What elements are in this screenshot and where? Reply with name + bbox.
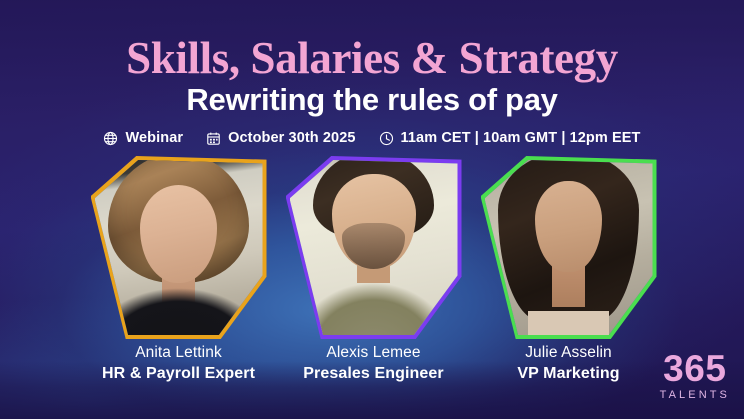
brand-logo: 365 TALENTS [660, 350, 730, 401]
brand-logo-wordmark: TALENTS [660, 390, 730, 401]
portrait-clothing [290, 255, 458, 336]
meta-item-date: October 30th 2025 [206, 130, 355, 146]
meta-item-format: Webinar [103, 130, 183, 146]
speaker-card: Anita Lettink HR & Payroll Expert [81, 160, 276, 383]
portrait-clothing [528, 311, 609, 336]
calendar-icon [206, 131, 221, 146]
speaker-card: Alexis Lemee Presales Engineer [276, 160, 471, 383]
meta-label-date: October 30th 2025 [228, 130, 355, 146]
meta-label-format: Webinar [125, 130, 183, 146]
speaker-role: HR & Payroll Expert [102, 365, 255, 383]
speaker-name: Alexis Lemee [326, 344, 420, 362]
speaker-role: Presales Engineer [303, 365, 443, 383]
clock-icon [379, 131, 394, 146]
banner-subtitle: Rewriting the rules of pay [0, 82, 744, 118]
speaker-photo-frame [290, 160, 458, 335]
meta-item-times: 11am CET | 10am GMT | 12pm EET [379, 130, 641, 146]
speaker-card: Julie Asselin VP Marketing [471, 160, 666, 383]
event-meta-bar: Webinar October 30th 2025 [0, 130, 744, 146]
banner-content: Skills, Salaries & Strategy Rewriting th… [0, 0, 744, 419]
meta-label-times: 11am CET | 10am GMT | 12pm EET [401, 130, 641, 146]
speaker-name: Anita Lettink [135, 344, 222, 362]
globe-icon [103, 131, 118, 146]
speaker-list: Anita Lettink HR & Payroll Expert [24, 160, 720, 383]
speaker-photo-frame [485, 160, 653, 335]
speaker-name: Julie Asselin [525, 344, 612, 362]
brand-logo-mark: 365 [660, 350, 730, 387]
banner-title: Skills, Salaries & Strategy [0, 33, 744, 83]
speaker-role: VP Marketing [517, 365, 619, 383]
portrait-clothing [95, 265, 263, 335]
speaker-photo-frame [95, 160, 263, 335]
